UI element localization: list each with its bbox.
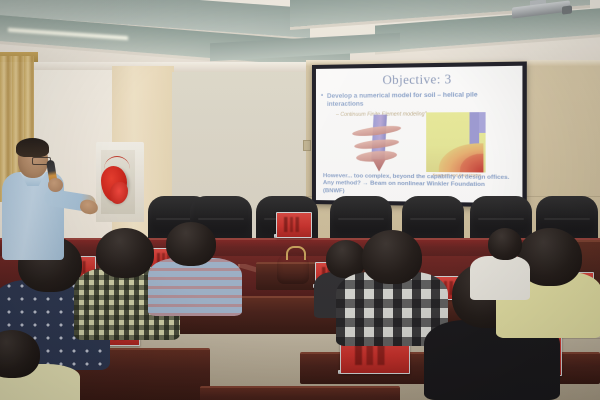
presenter-mic-hand (48, 178, 63, 192)
presenter-hand (79, 198, 100, 215)
helical-pile-3d-figure (350, 112, 414, 175)
slide-bullet: Develop a numerical model for soil – hel… (322, 91, 516, 110)
presenter (0, 138, 100, 258)
audience-white-shirt-right-head (488, 228, 522, 260)
presenter-hair (16, 138, 49, 157)
screen-surface: Objective: 3 Develop a numerical model f… (316, 66, 522, 204)
slide-title: Objective: 3 (322, 71, 516, 89)
name-placard (276, 212, 312, 238)
conference-room-photo: Objective: 3 Develop a numerical model f… (0, 0, 600, 400)
slide-figures: Knappett and Bhat (2009) (332, 112, 509, 177)
projection-screen: Objective: 3 Develop a numerical model f… (312, 61, 527, 207)
audience-checked-shirt-head (96, 228, 154, 278)
audience-desk (200, 386, 400, 400)
soil-contour-plot-figure (426, 112, 485, 172)
projector-lens (562, 5, 572, 14)
presentation-slide: Objective: 3 Develop a numerical model f… (316, 66, 522, 204)
projector-icon (508, 0, 574, 18)
pile-tip (372, 159, 385, 171)
audience-plaid-shirt-head (362, 230, 422, 284)
audience-striped-shirt-body (148, 258, 242, 316)
slide-note: However... too complex, beyond the capab… (323, 173, 516, 198)
audience-white-shirt-right-body (470, 256, 530, 300)
audience-striped-shirt-head (166, 222, 216, 266)
wall-switch[interactable] (303, 140, 311, 151)
beige-handbag-icon (277, 252, 309, 284)
